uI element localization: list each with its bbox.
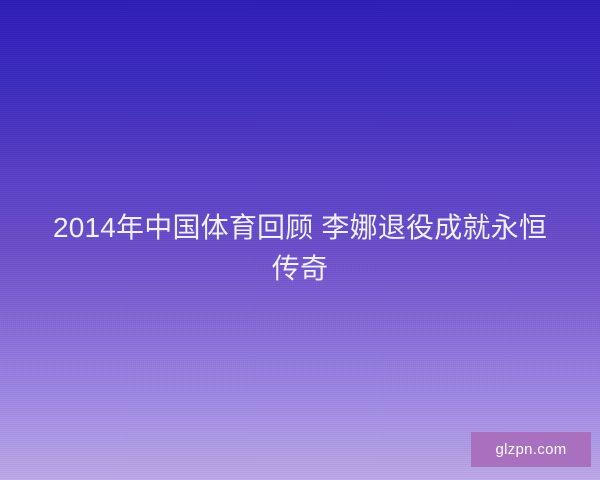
watermark-label: glzpn.com <box>495 442 566 457</box>
headline-text: 2014年中国体育回顾 李娜退役成就永恒 传奇 <box>0 207 600 289</box>
article-thumbnail-image: 2014年中国体育回顾 李娜退役成就永恒 传奇 glzpn.com <box>0 0 600 480</box>
watermark-badge: glzpn.com <box>471 432 591 467</box>
